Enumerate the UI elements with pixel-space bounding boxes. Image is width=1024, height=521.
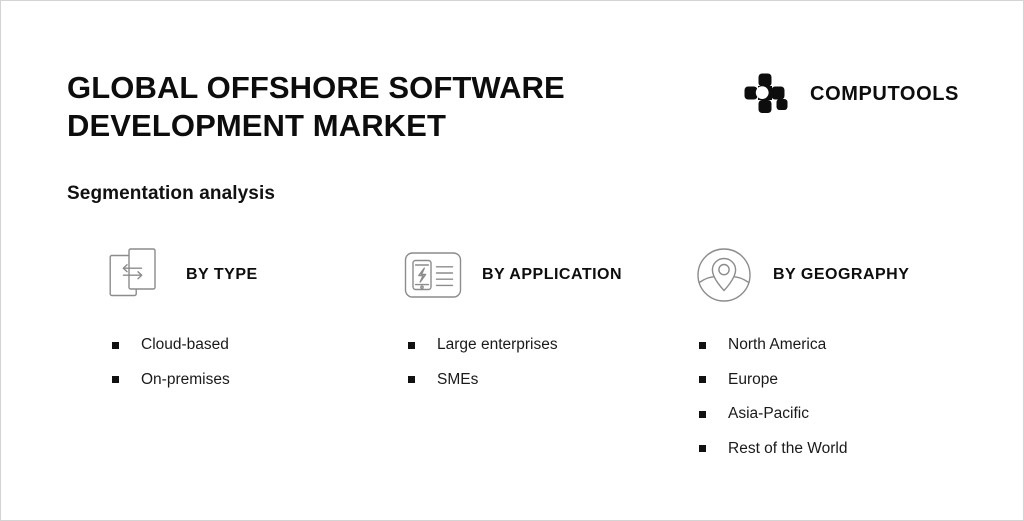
subtitle: Segmentation analysis bbox=[67, 183, 275, 205]
bullet-square-icon bbox=[699, 376, 706, 383]
bullet-square-icon bbox=[408, 376, 415, 383]
segment-header: BY TYPE bbox=[106, 244, 258, 306]
list-item-label: Large enterprises bbox=[437, 336, 558, 354]
brand-logo: COMPUTOOLS bbox=[744, 73, 959, 115]
page-title: GLOBAL OFFSHORE SOFTWARE DEVELOPMENT MAR… bbox=[67, 69, 687, 145]
segment-column-by-type: BY TYPE Cloud-based On-premises bbox=[106, 244, 258, 397]
list-item-label: Rest of the World bbox=[728, 440, 847, 458]
bullet-square-icon bbox=[112, 376, 119, 383]
bullet-square-icon bbox=[699, 342, 706, 349]
segment-header: BY GEOGRAPHY bbox=[693, 244, 909, 306]
two-overlapping-documents-exchange-icon bbox=[106, 244, 168, 306]
list-item-label: Europe bbox=[728, 371, 778, 389]
brand-name: COMPUTOOLS bbox=[810, 83, 959, 106]
list-item: SMEs bbox=[408, 363, 622, 398]
mobile-app-card-lightning-icon bbox=[402, 244, 464, 306]
computools-blocks-logo-icon bbox=[744, 73, 796, 115]
list-item-label: Cloud-based bbox=[141, 336, 229, 354]
bullet-square-icon bbox=[112, 342, 119, 349]
segment-item-list: Large enterprises SMEs bbox=[408, 328, 622, 397]
page-title-line-1: GLOBAL OFFSHORE SOFTWARE bbox=[67, 69, 687, 107]
list-item: On-premises bbox=[112, 363, 258, 398]
slide-canvas: GLOBAL OFFSHORE SOFTWARE DEVELOPMENT MAR… bbox=[0, 0, 1024, 521]
list-item-label: On-premises bbox=[141, 371, 230, 389]
globe-map-pin-icon bbox=[693, 244, 755, 306]
list-item: North America bbox=[699, 328, 909, 363]
bullet-square-icon bbox=[408, 342, 415, 349]
page-title-line-2: DEVELOPMENT MARKET bbox=[67, 107, 687, 145]
segment-column-by-geography: BY GEOGRAPHY North America Europe Asia-P… bbox=[693, 244, 909, 466]
list-item: Cloud-based bbox=[112, 328, 258, 363]
segmentation-columns: BY TYPE Cloud-based On-premises bbox=[1, 244, 1024, 484]
list-item-label: North America bbox=[728, 336, 826, 354]
bullet-square-icon bbox=[699, 445, 706, 452]
segment-item-list: North America Europe Asia-Pacific Rest o… bbox=[699, 328, 909, 466]
list-item: Large enterprises bbox=[408, 328, 622, 363]
list-item: Asia-Pacific bbox=[699, 397, 909, 432]
segment-column-by-application: BY APPLICATION Large enterprises SMEs bbox=[402, 244, 622, 397]
bullet-square-icon bbox=[699, 411, 706, 418]
list-item: Europe bbox=[699, 363, 909, 398]
segment-label: BY APPLICATION bbox=[482, 266, 622, 284]
list-item-label: SMEs bbox=[437, 371, 478, 389]
list-item: Rest of the World bbox=[699, 432, 909, 467]
list-item-label: Asia-Pacific bbox=[728, 405, 809, 423]
segment-item-list: Cloud-based On-premises bbox=[112, 328, 258, 397]
segment-label: BY GEOGRAPHY bbox=[773, 266, 909, 284]
segment-label: BY TYPE bbox=[186, 266, 258, 284]
segment-header: BY APPLICATION bbox=[402, 244, 622, 306]
